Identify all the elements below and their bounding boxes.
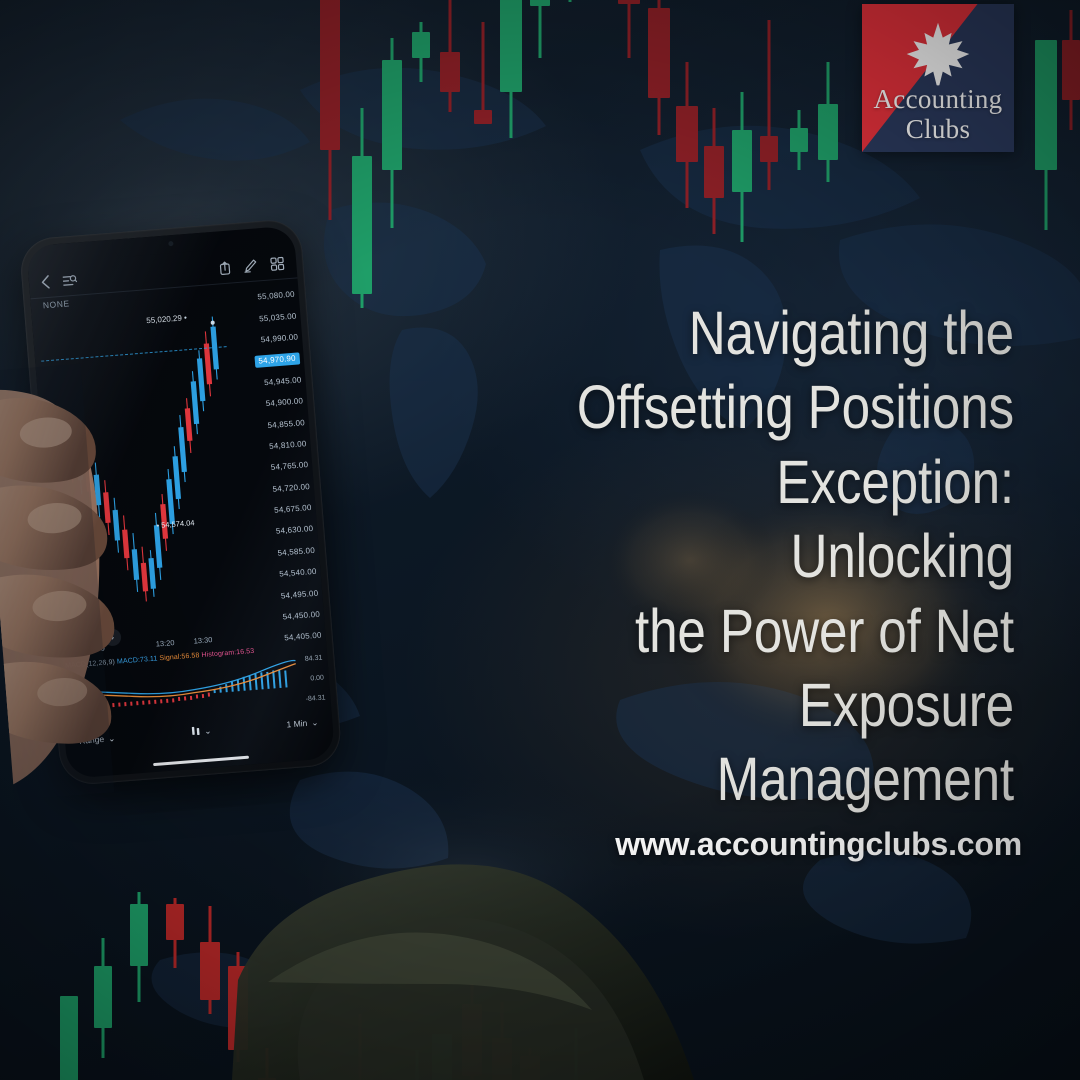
poster-canvas: NONE — [0, 0, 1080, 1080]
vignette-overlay — [0, 0, 1080, 1080]
